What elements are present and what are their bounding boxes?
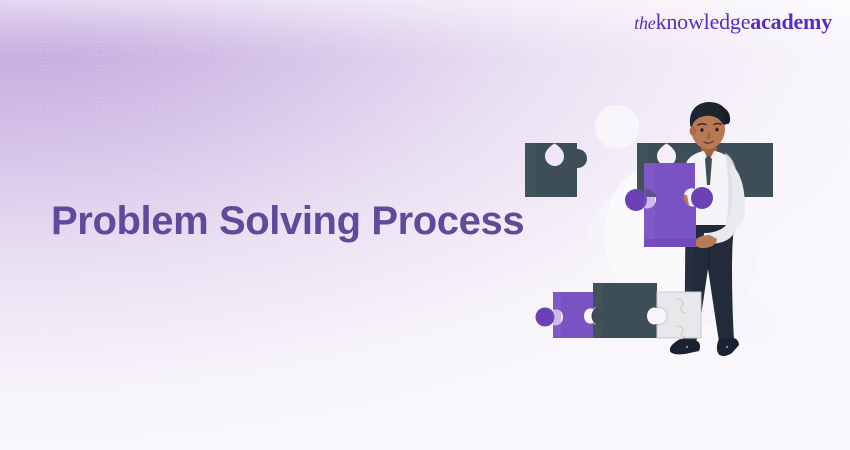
logo-word-knowledge: knowledge bbox=[656, 9, 751, 34]
man-holding-puzzle-piece-illustration bbox=[505, 85, 850, 370]
banner-image: theknowledgeacademy Problem Solving Proc… bbox=[0, 0, 850, 450]
man-head bbox=[690, 102, 731, 149]
puzzle-piece-top-left bbox=[525, 143, 587, 197]
logo-word-academy: academy bbox=[750, 9, 832, 34]
logo-word-the: the bbox=[634, 13, 655, 33]
page-title: Problem Solving Process bbox=[51, 199, 524, 244]
illustration-container bbox=[505, 85, 850, 370]
man-shoes bbox=[670, 338, 739, 356]
decorative-circle-top bbox=[595, 105, 639, 149]
brand-logo[interactable]: theknowledgeacademy bbox=[634, 11, 832, 33]
puzzle-piece-bottom-slate bbox=[592, 283, 658, 338]
puzzle-piece-bottom-purple bbox=[536, 292, 594, 338]
